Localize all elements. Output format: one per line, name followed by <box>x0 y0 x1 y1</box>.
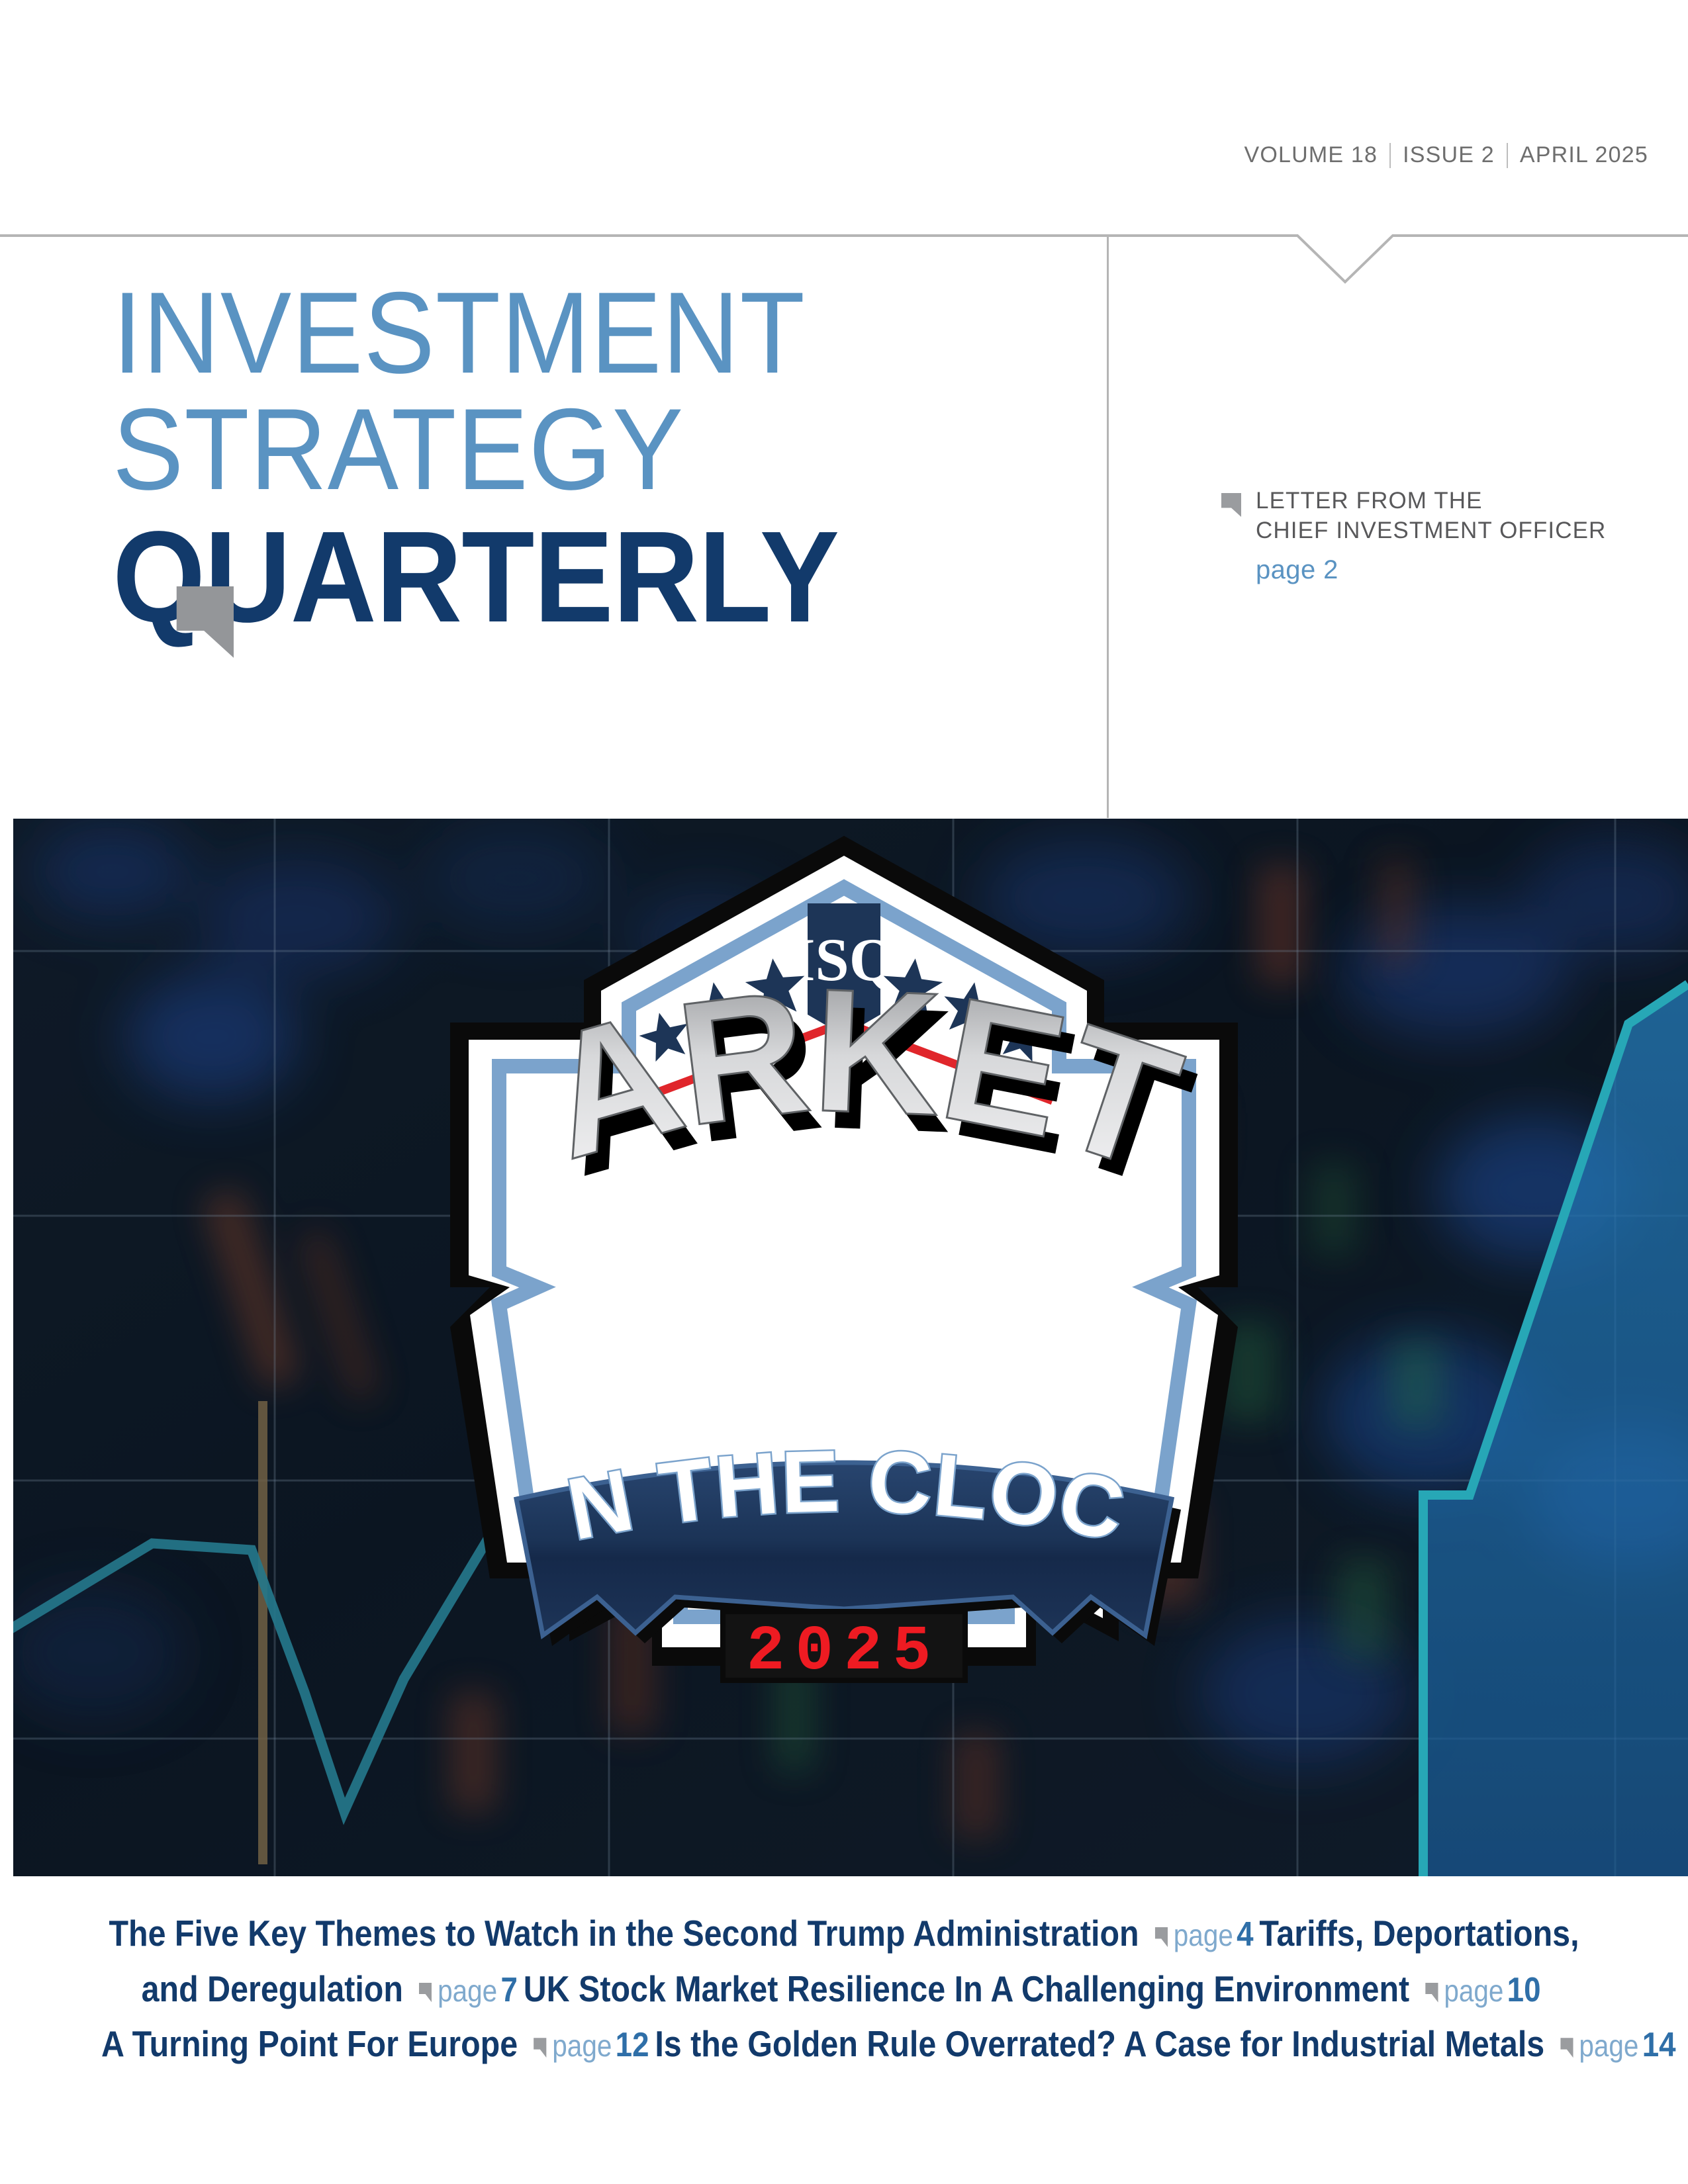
headline-title[interactable]: The Five Key Themes to Watch in the Seco… <box>109 1913 1148 1954</box>
headline-page-label[interactable]: page <box>1579 2028 1638 2063</box>
headline-page-number[interactable]: 10 <box>1507 1971 1541 2009</box>
flag-icon <box>1155 1927 1168 1947</box>
headline-page-number[interactable]: 4 <box>1237 1915 1253 1954</box>
issue-line: VOLUME 18 ISSUE 2 APRIL 2025 <box>1244 142 1648 168</box>
cio-line-2: CHIEF INVESTMENT OFFICER <box>1256 516 1606 546</box>
headline-page-label[interactable]: page <box>438 1974 497 2008</box>
headline-page-label[interactable]: page <box>552 2028 612 2063</box>
cio-page-link[interactable]: page 2 <box>1256 555 1606 585</box>
flag-icon <box>1425 1983 1438 2003</box>
headline-page-number[interactable]: 7 <box>500 1971 517 2009</box>
separator-icon <box>1389 143 1391 168</box>
masthead-line-1: INVESTMENT <box>113 278 996 389</box>
headline-page-number[interactable]: 12 <box>616 2026 649 2064</box>
cio-feature-block[interactable]: LETTER FROM THE CHIEF INVESTMENT OFFICER… <box>1221 486 1645 585</box>
headline-row[interactable]: The Five Key Themes to Watch in the Seco… <box>101 1906 1587 1962</box>
flag-icon <box>1560 2038 1573 2058</box>
led-year-text: 2025 <box>747 1615 941 1688</box>
headline-row[interactable]: and Deregulation page7UK Stock Market Re… <box>101 1962 1587 2017</box>
flag-icon <box>534 2038 546 2058</box>
volume-label: VOLUME 18 <box>1244 142 1378 168</box>
issue-label: ISSUE 2 <box>1403 142 1495 168</box>
headline-title[interactable]: A Turning Point For Europe <box>101 2023 527 2064</box>
markets-on-the-clock-badge: ISQ MARKETS MARKETS <box>437 824 1251 1691</box>
headline-page-label[interactable]: page <box>1174 1918 1233 1952</box>
headline-page-number[interactable]: 14 <box>1642 2026 1676 2064</box>
headline-title[interactable]: UK Stock Market Resilience In A Challeng… <box>524 1968 1419 2009</box>
masthead-line-3: QUARTERLY <box>113 515 996 639</box>
issue-bar: VOLUME 18 ISSUE 2 APRIL 2025 <box>0 0 1688 235</box>
date-label: APRIL 2025 <box>1520 142 1648 168</box>
led-year-display: 2025 <box>720 1609 968 1688</box>
headline-title[interactable]: Tariffs, Deportations, <box>1259 1913 1579 1954</box>
masthead-line-2: STRATEGY <box>113 394 996 506</box>
masthead: INVESTMENT STRATEGY QUARTERLY <box>113 278 1072 774</box>
headline-title[interactable]: and Deregulation <box>142 1968 412 2009</box>
flag-icon <box>419 1983 432 2003</box>
flag-icon <box>1221 493 1241 517</box>
headline-page-label[interactable]: page <box>1444 1974 1503 2008</box>
headline-row[interactable]: A Turning Point For Europe page12Is the … <box>101 2017 1587 2072</box>
headline-list: The Five Key Themes to Watch in the Seco… <box>0 1906 1688 2072</box>
separator-icon <box>1507 143 1508 168</box>
cio-line-1: LETTER FROM THE <box>1256 486 1606 516</box>
vertical-divider <box>1107 236 1109 818</box>
headline-title[interactable]: Is the Golden Rule Overrated? A Case for… <box>655 2023 1553 2064</box>
